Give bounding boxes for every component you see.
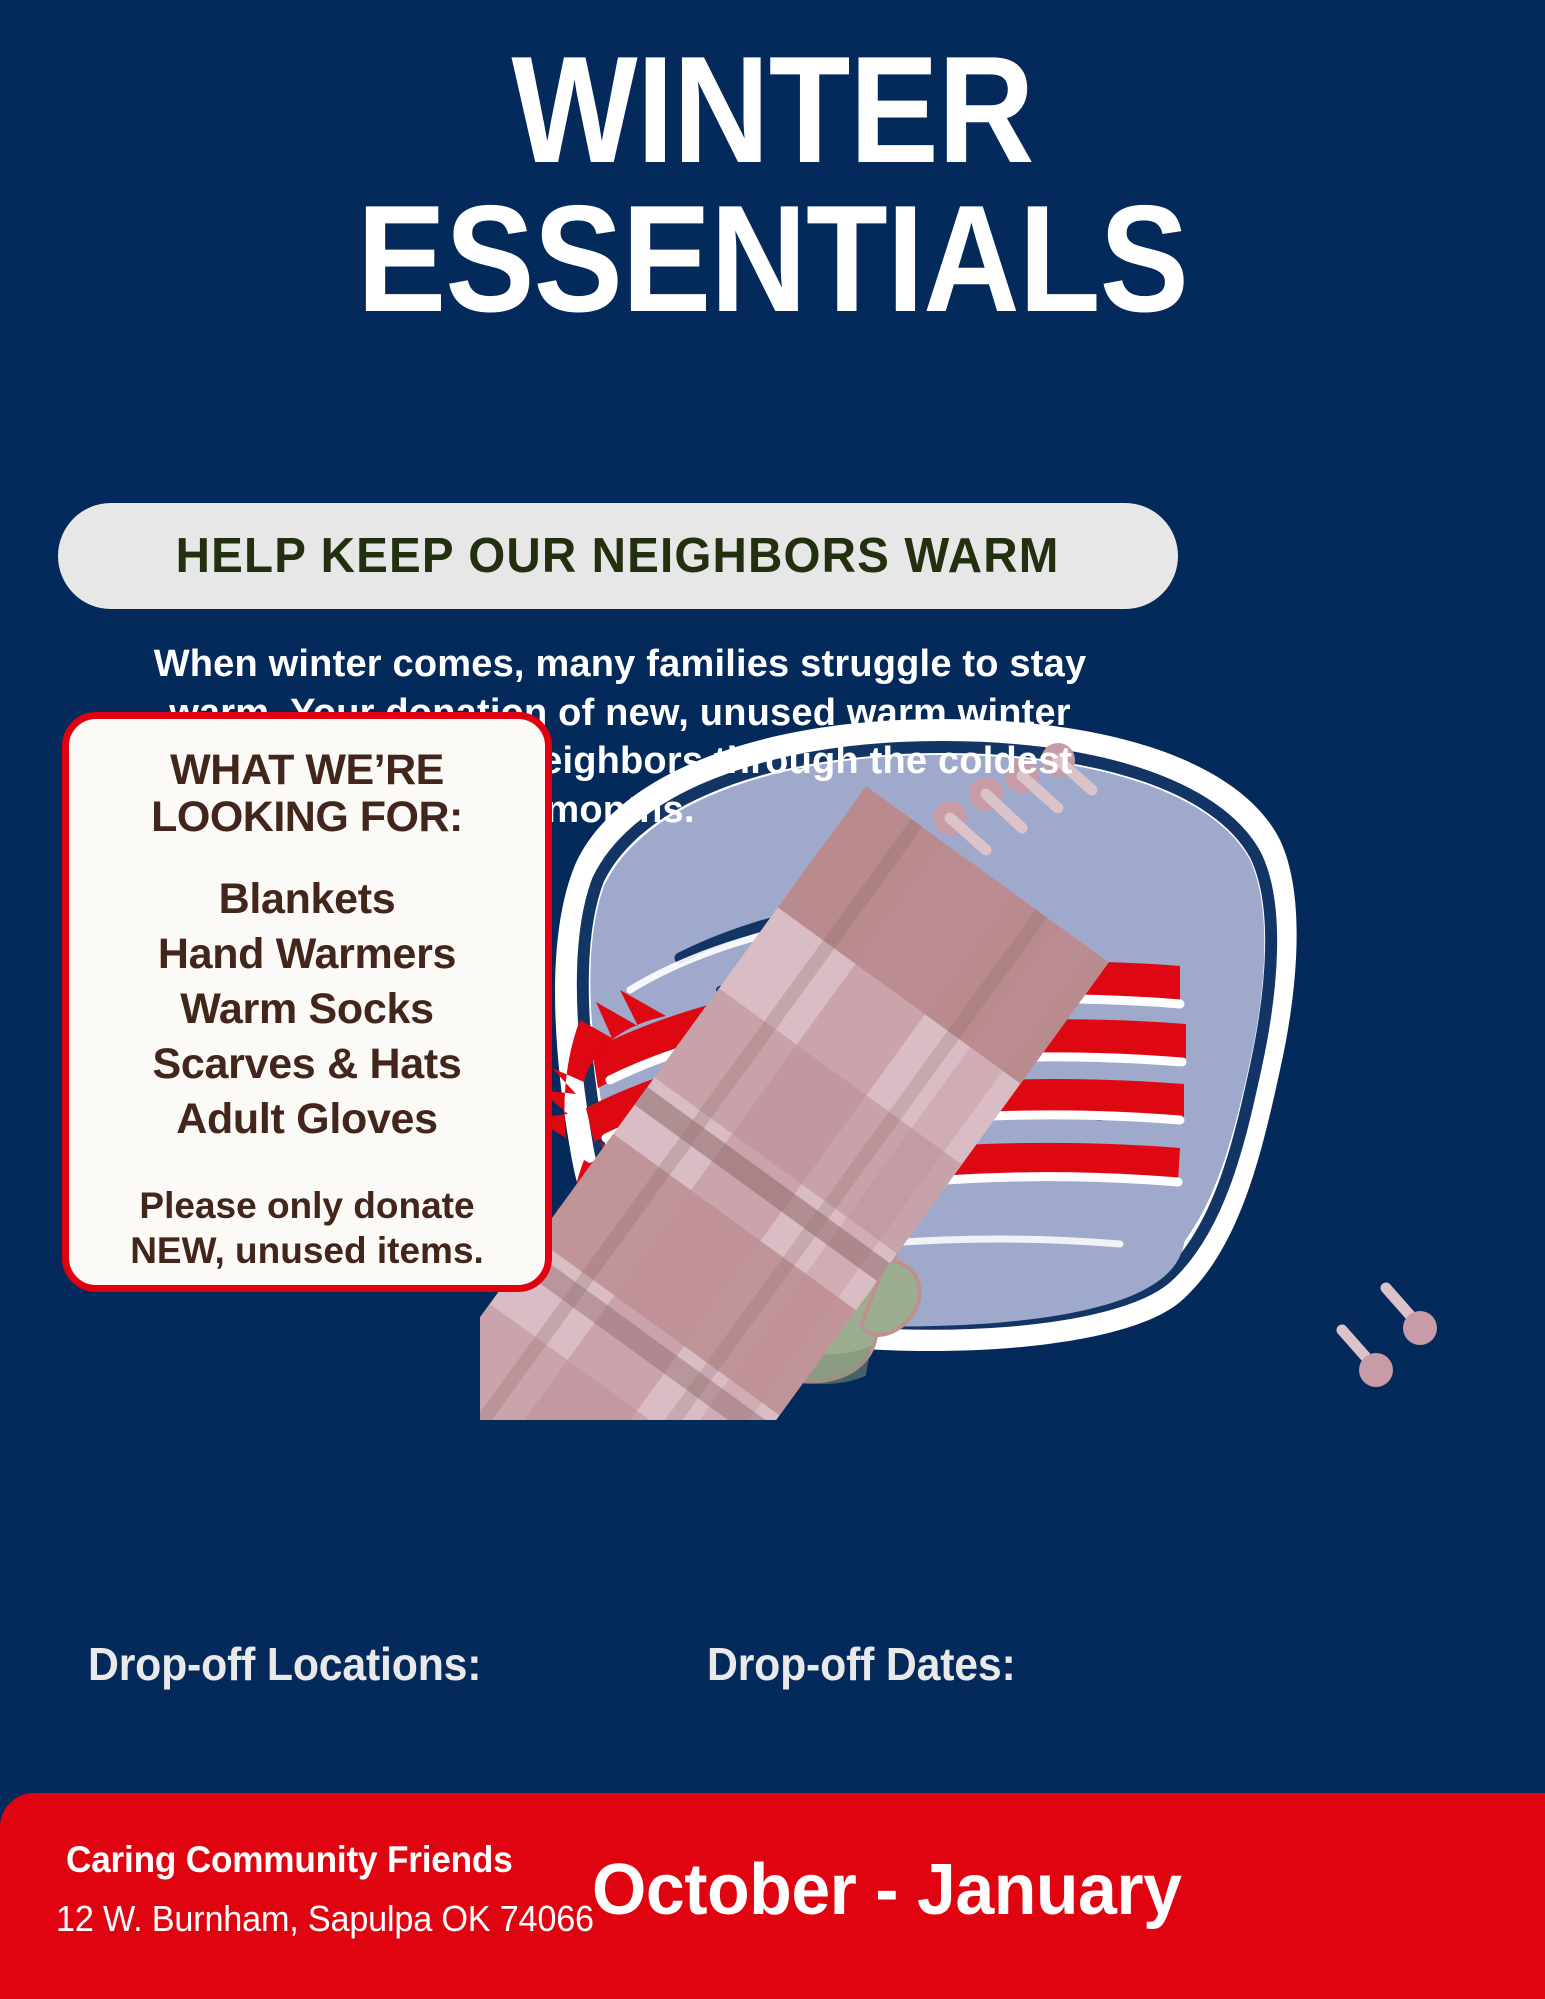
list-item: Warm Socks bbox=[85, 982, 529, 1037]
dropoff-dates-label: Drop-off Dates: bbox=[707, 1637, 1016, 1691]
wanted-items-card: WHAT WE’RE LOOKING FOR: Blankets Hand Wa… bbox=[62, 712, 552, 1292]
list-item: Scarves & Hats bbox=[85, 1037, 529, 1092]
title-line-2: ESSENTIALS bbox=[93, 185, 1453, 334]
winter-essentials-poster: WINTER ESSENTIALS HELP KEEP OUR NEIGHBOR… bbox=[0, 0, 1545, 1999]
organization-address: 12 W. Burnham, Sapulpa OK 74066 bbox=[56, 1898, 594, 1940]
help-banner-text: HELP KEEP OUR NEIGHBORS WARM bbox=[176, 528, 1060, 584]
dropoff-locations-label: Drop-off Locations: bbox=[88, 1637, 481, 1691]
donation-note: Please only donate NEW, unused items. bbox=[85, 1183, 529, 1273]
scarf-bottom-fringe bbox=[1342, 1288, 1437, 1387]
list-item: Blankets bbox=[85, 872, 529, 927]
organization-name: Caring Community Friends bbox=[66, 1839, 513, 1881]
page-title: WINTER ESSENTIALS bbox=[0, 36, 1545, 334]
dropoff-dates-value: October - January bbox=[592, 1849, 1181, 1931]
footer-banner: Caring Community Friends 12 W. Burnham, … bbox=[0, 1793, 1545, 1999]
title-line-1: WINTER bbox=[93, 36, 1453, 185]
list-item: Adult Gloves bbox=[85, 1092, 529, 1147]
card-heading: WHAT WE’RE LOOKING FOR: bbox=[85, 747, 529, 842]
list-item: Hand Warmers bbox=[85, 927, 529, 982]
help-banner: HELP KEEP OUR NEIGHBORS WARM bbox=[58, 503, 1178, 609]
